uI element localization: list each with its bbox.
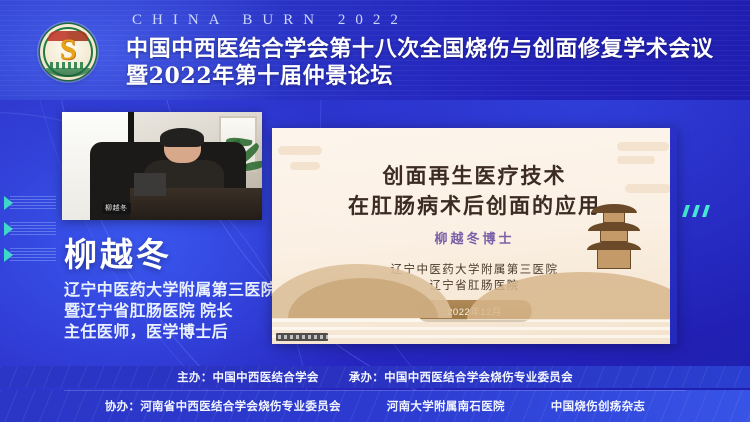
video-person-hair bbox=[160, 128, 204, 147]
footer-organizer-host: 主办：中国中西医结合学会 bbox=[177, 369, 319, 385]
slide-wave-2 bbox=[272, 327, 677, 330]
video-participant-label: 柳越冬 bbox=[102, 203, 131, 214]
slide-right-rail bbox=[670, 128, 677, 344]
chevron-icon-1 bbox=[4, 196, 13, 210]
speaker-affiliation-line3: 主任医师，医学博士后 bbox=[64, 318, 228, 342]
slide-wave-1 bbox=[272, 319, 677, 322]
tick-mark-icon-2 bbox=[692, 205, 700, 217]
footer-coorganizer-1: 协办：河南省中西医结合学会烧伤专业委员会 bbox=[105, 398, 341, 414]
footer-coorganizer-3: 中国烧伤创疡杂志 bbox=[551, 398, 645, 414]
conference-logo: S bbox=[40, 24, 96, 80]
slide-taskbar[interactable] bbox=[276, 333, 328, 341]
slide-title-line1: 创面再生医疗技术 bbox=[272, 160, 677, 190]
chevron-trail-1 bbox=[10, 196, 56, 210]
chevron-icon-3 bbox=[4, 248, 13, 262]
conference-broadcast-screen: S CHINA BURN 2022 中国中西医结合学会第十八次全国烧伤与创面修复… bbox=[0, 0, 750, 422]
speaker-video-tile[interactable]: 柳越冬 bbox=[62, 112, 262, 220]
header-title-line2: 暨2022年第十届仲景论坛 bbox=[126, 58, 393, 90]
header-kicker: CHINA BURN 2022 bbox=[132, 12, 408, 29]
speaker-name: 柳越冬 bbox=[64, 228, 172, 276]
presentation-slide[interactable]: 创面再生医疗技术 在肛肠病术后创面的应用 柳越冬博士 辽宁中医药大学附属第三医院… bbox=[272, 128, 677, 344]
tick-mark-icon-1 bbox=[682, 205, 690, 217]
slide-pagoda-icon bbox=[587, 204, 641, 270]
footer-coorganizer-2: 河南大学附属南石医院 bbox=[387, 398, 505, 414]
tick-mark-icon-3 bbox=[702, 205, 710, 217]
slide-cloud-1 bbox=[617, 142, 669, 151]
slide-cloud-4 bbox=[278, 146, 322, 155]
video-bookshelf bbox=[134, 173, 166, 197]
chevron-trail-3 bbox=[10, 248, 56, 262]
footer-organizers-row: 主办：中国中西医结合学会 承办：中国中西医结合学会烧伤专业委员会 bbox=[0, 366, 750, 388]
chevron-icon-2 bbox=[4, 222, 13, 236]
footer-coorganizers-row: 协办：河南省中西医结合学会烧伤专业委员会 河南大学附属南石医院 中国烧伤创疡杂志 bbox=[0, 390, 750, 422]
footer-organizer-undertaker: 承办：中国中西医结合学会烧伤专业委员会 bbox=[349, 369, 573, 385]
slide-wave-3 bbox=[272, 335, 677, 338]
conference-header-banner: S CHINA BURN 2022 中国中西医结合学会第十八次全国烧伤与创面修复… bbox=[0, 0, 750, 100]
chevron-trail-2 bbox=[10, 222, 56, 236]
